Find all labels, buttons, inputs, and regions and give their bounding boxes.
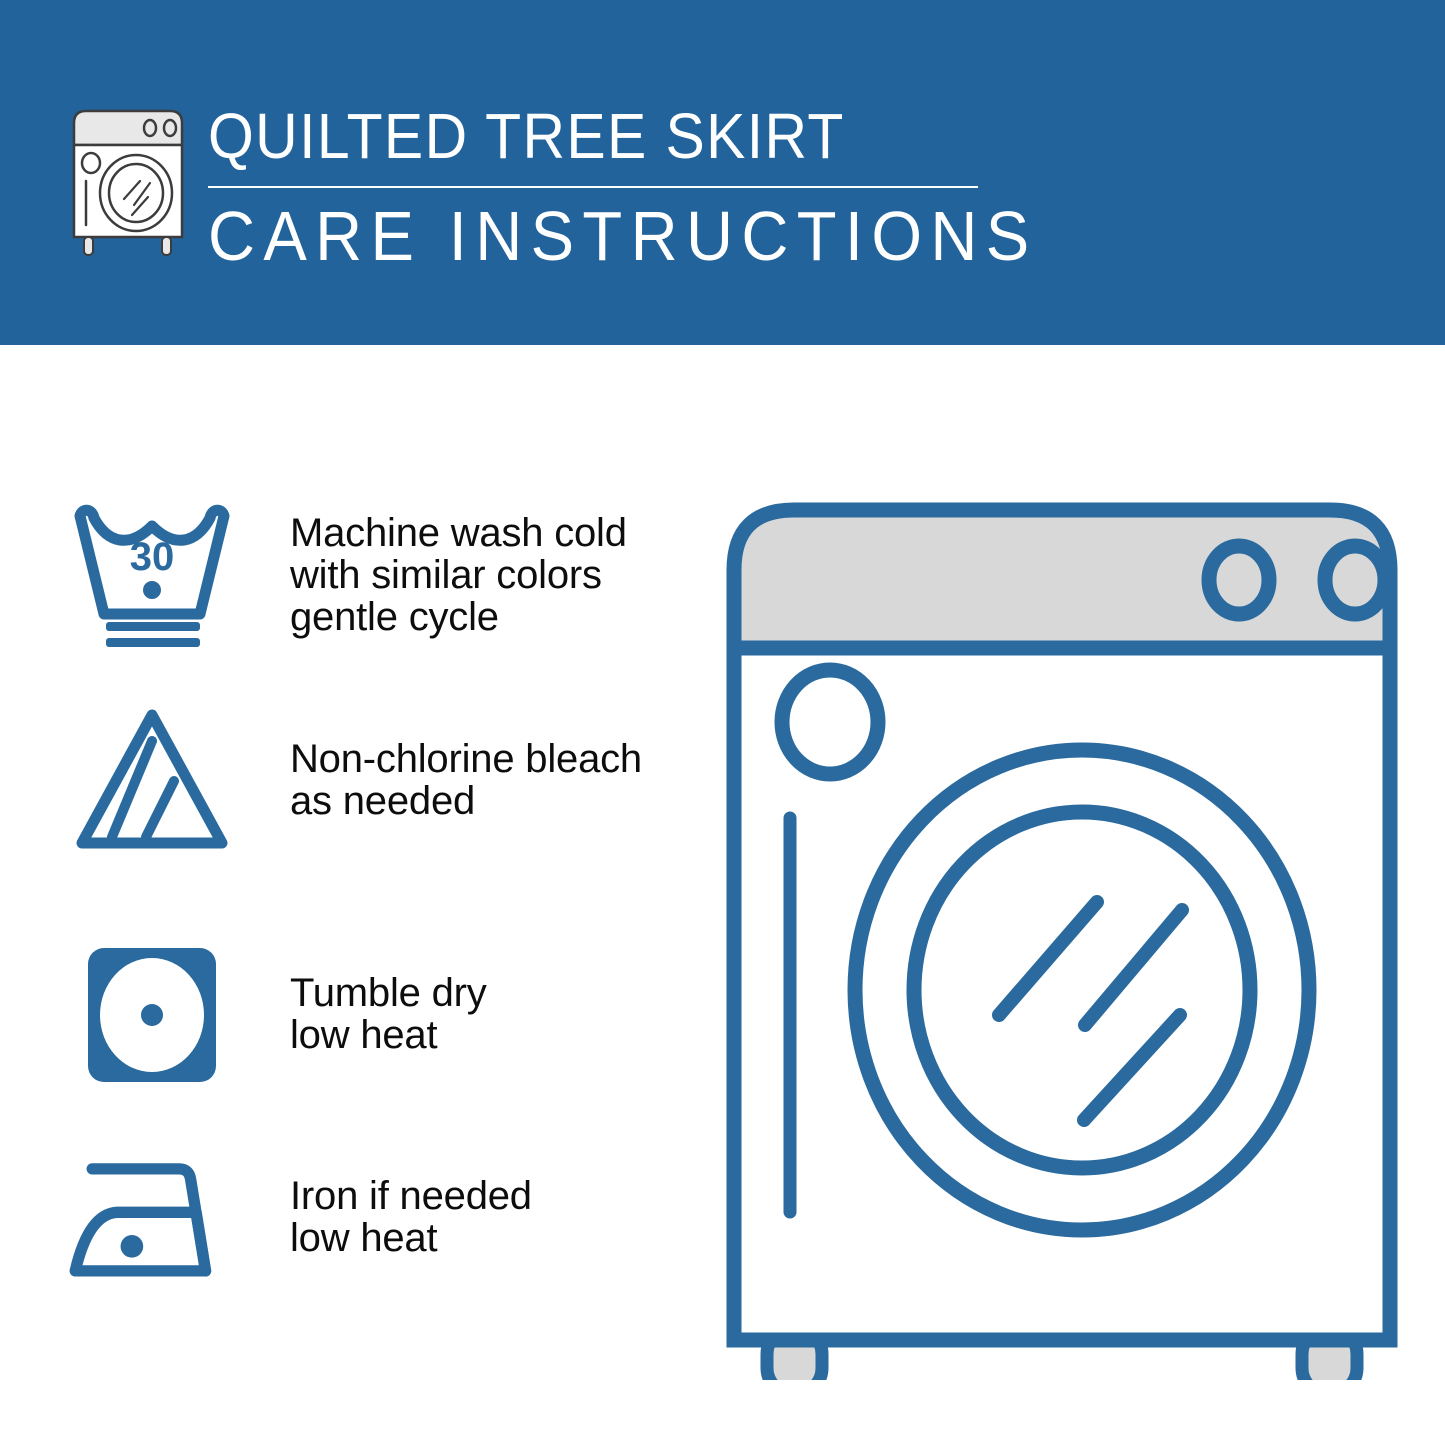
care-label-bleach: Non-chlorine bleach as needed: [290, 738, 642, 822]
washing-machine-illustration: [712, 470, 1412, 1380]
care-label-iron: Iron if needed low heat: [290, 1175, 532, 1259]
header-title-block: QUILTED TREE SKIRT CARE INSTRUCTIONS: [208, 100, 1008, 276]
washing-machine-icon: [62, 103, 187, 258]
tumble-dry-low-icon: [68, 940, 238, 1090]
title-divider: [208, 186, 978, 188]
page-title: QUILTED TREE SKIRT: [208, 100, 944, 172]
svg-text:30: 30: [130, 535, 175, 579]
header-banner: QUILTED TREE SKIRT CARE INSTRUCTIONS: [0, 0, 1445, 345]
care-label-dry: Tumble dry low heat: [290, 972, 487, 1056]
iron-low-heat-icon: [62, 1148, 232, 1288]
care-instructions-page: QUILTED TREE SKIRT CARE INSTRUCTIONS 30 …: [0, 0, 1445, 1445]
wash-tub-30-icon: 30: [68, 498, 238, 648]
bleach-triangle-icon: [68, 705, 238, 855]
page-subtitle: CARE INSTRUCTIONS: [208, 196, 952, 276]
care-label-wash: Machine wash cold with similar colors ge…: [290, 512, 627, 638]
